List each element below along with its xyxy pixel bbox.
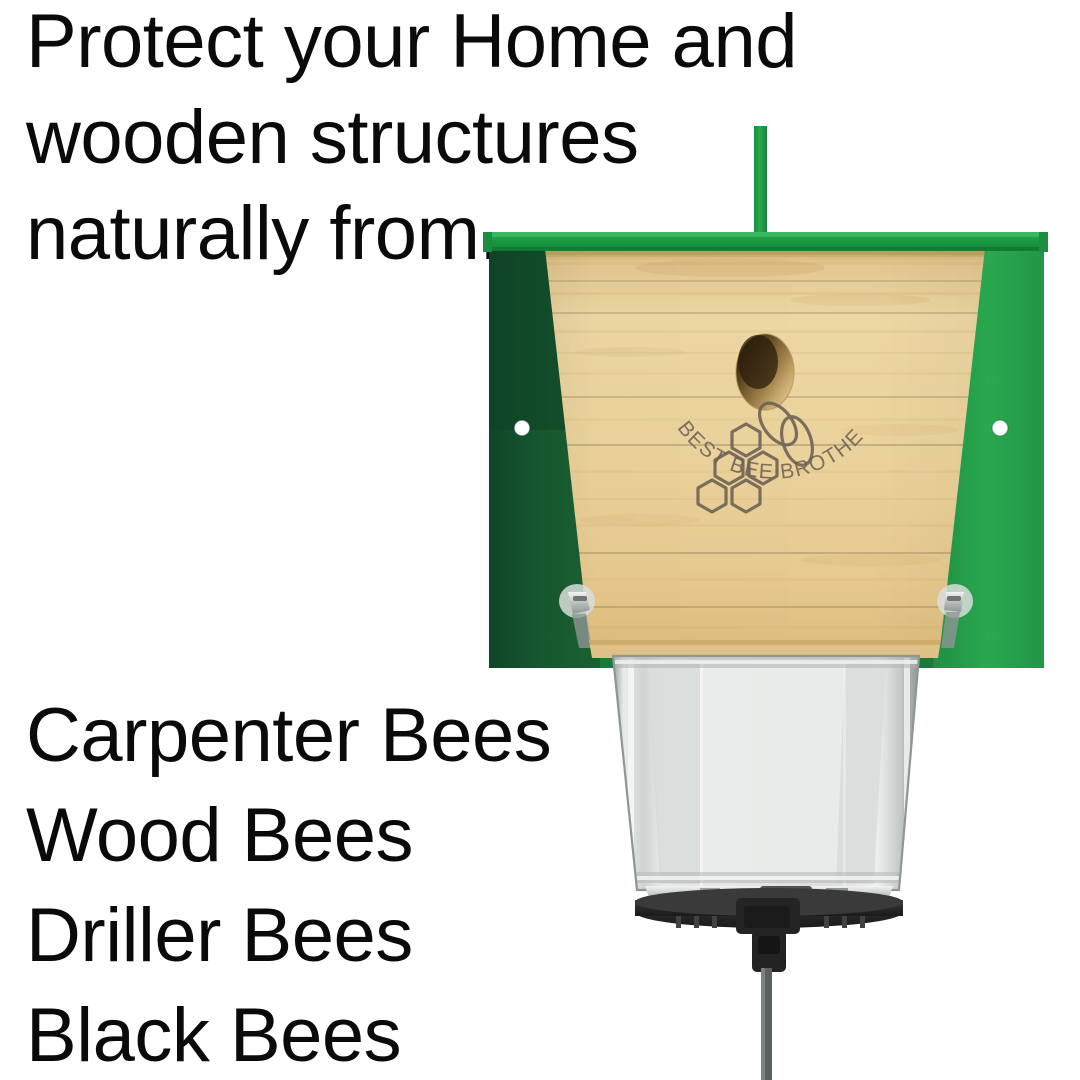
wood-bottom-lip [589, 640, 941, 658]
left-mount-hole [514, 420, 530, 436]
entrance-hole [736, 334, 794, 410]
left-side-panel [489, 244, 600, 668]
right-mount-hole [992, 420, 1008, 436]
pest-list-item-0: Carpenter Bees [26, 686, 666, 786]
wood-front-panel [540, 244, 995, 644]
headline-text: Protect your Home and wooden structures … [26, 0, 886, 282]
pest-list: Carpenter Bees Wood Bees Driller Bees Bl… [26, 686, 666, 1080]
left-screw-bracket [559, 584, 595, 648]
right-side-panel [933, 244, 1044, 668]
pest-list-item-3: Black Bees [26, 986, 666, 1080]
bee-wings-icon [752, 396, 818, 469]
jar-lid [635, 886, 903, 934]
right-screw-bracket [937, 584, 973, 648]
brand-logo [698, 396, 818, 512]
pest-list-item-1: Wood Bees [26, 786, 666, 886]
pest-list-item-2: Driller Bees [26, 886, 666, 986]
jar-strap [752, 930, 786, 1080]
trap-body [489, 244, 1044, 668]
promo-image: Protect your Home and wooden structures … [0, 0, 1080, 1080]
honeycomb-icon [698, 424, 777, 512]
